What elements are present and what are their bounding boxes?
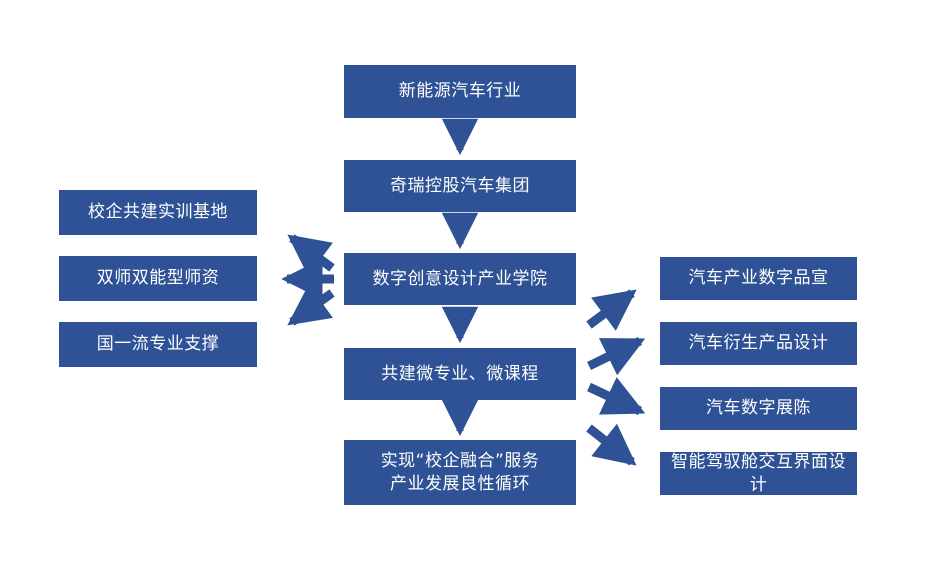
connector-micro-to-cockpit-ui bbox=[589, 428, 632, 462]
node-joint-training-base[interactable]: 校企共建实训基地 bbox=[59, 190, 257, 235]
node-national-first-class-major-support[interactable]: 国一流专业支撑 bbox=[59, 322, 257, 367]
connector-academy-to-major-support bbox=[292, 293, 332, 322]
node-automotive-derivative-product-design[interactable]: 汽车衍生产品设计 bbox=[660, 322, 857, 365]
node-dual-qualified-faculty[interactable]: 双师双能型师资 bbox=[59, 256, 257, 301]
node-smart-cockpit-interaction-ui-design[interactable]: 智能驾驭舱交互界面设计 bbox=[660, 452, 857, 495]
node-automotive-digital-branding[interactable]: 汽车产业数字品宣 bbox=[660, 257, 857, 300]
node-digital-creative-design-industry-college[interactable]: 数字创意设计产业学院 bbox=[344, 253, 576, 305]
node-new-energy-vehicle-industry[interactable]: 新能源汽车行业 bbox=[344, 65, 576, 118]
node-school-enterprise-integration-outcome[interactable]: 实现“校企融合”服务 产业发展良性循环 bbox=[344, 440, 576, 505]
connector-academy-to-branding bbox=[589, 293, 632, 325]
connector-micro-to-exhibition bbox=[589, 387, 640, 411]
flow-diagram-canvas: 新能源汽车行业 奇瑞控股汽车集团 数字创意设计产业学院 共建微专业、微课程 实现… bbox=[0, 0, 934, 562]
node-chery-holding-automobile-group[interactable]: 奇瑞控股汽车集团 bbox=[344, 160, 576, 212]
connector-academy-to-derivative-design bbox=[589, 341, 640, 366]
connector-academy-to-training-base bbox=[292, 238, 332, 268]
node-micro-major-micro-course[interactable]: 共建微专业、微课程 bbox=[344, 348, 576, 400]
node-automotive-digital-exhibition[interactable]: 汽车数字展陈 bbox=[660, 387, 857, 430]
